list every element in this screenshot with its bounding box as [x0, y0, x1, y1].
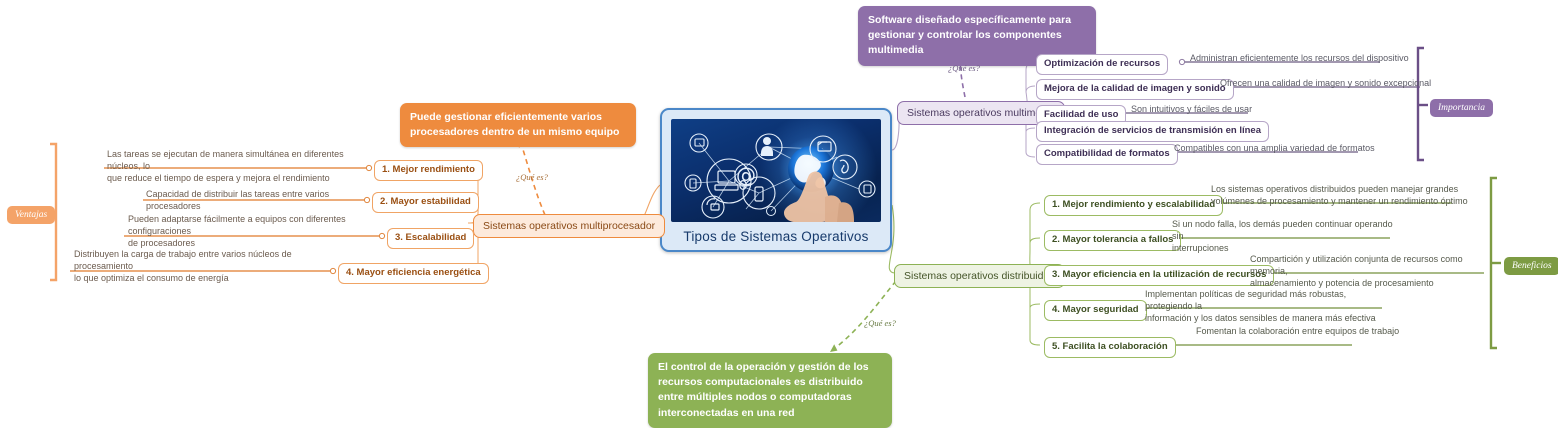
page-title: Tipos de Sistemas Operativos: [671, 222, 881, 252]
leaf-desc-mayor-eficiencia-utilizacion-recursos: Compartición y utilización conjunta de r…: [1250, 253, 1500, 289]
svg-text:@: @: [736, 163, 756, 187]
branch-head-distribuidos[interactable]: Sistemas operativos distribuidos: [894, 264, 1065, 288]
central-topic[interactable]: @ Tipos de Sistemas Operativos: [660, 108, 892, 252]
multimedia-question-label: ¿Qué es?: [948, 63, 980, 73]
leaf-integracion-servicios-transmision[interactable]: Integración de servicios de transmisión …: [1036, 121, 1269, 142]
distribuidos-definition-callout[interactable]: El control de la operación y gestión de …: [648, 353, 892, 428]
group-tag-ventajas[interactable]: Ventajas: [7, 204, 55, 224]
leaf-desc-optimizacion-de-recursos: Administran eficientemente los recursos …: [1190, 52, 1420, 64]
leaf-desc-mayor-estabilidad: Capacidad de distribuir las tareas entre…: [146, 188, 376, 212]
group-tag-importancia-label: Importancia: [1430, 99, 1493, 117]
branch-head-multiprocesador[interactable]: Sistemas operativos multiprocesador: [473, 214, 665, 238]
group-tag-ventajas-label: Ventajas: [7, 206, 55, 224]
leaf-mayor-tolerancia-a-fallos[interactable]: 2. Mayor tolerancia a fallos: [1044, 230, 1181, 251]
leaf-desc-mayor-eficiencia-energetica: Distribuyen la carga de trabajo entre va…: [74, 248, 329, 284]
multiprocesador-question-label: ¿Qué es?: [516, 172, 548, 182]
distribuidos-question-label: ¿Qué es?: [864, 318, 896, 328]
leaf-desc-facilidad-de-uso: Son intuitivos y fáciles de usar: [1131, 103, 1311, 115]
group-tag-beneficios[interactable]: Beneficios: [1504, 255, 1558, 275]
leaf-mejor-rendimiento-escalabilidad[interactable]: 1. Mejor rendimiento y escalabilidad: [1044, 195, 1223, 216]
multiprocesador-definition-callout[interactable]: Puede gestionar eficientemente varios pr…: [400, 103, 636, 147]
leaf-desc-mayor-tolerancia-a-fallos: Si un nodo falla, los demás pueden conti…: [1172, 218, 1402, 254]
leaf-desc-escalabilidad: Pueden adaptarse fácilmente a equipos co…: [128, 213, 383, 249]
leaf-desc-mejor-rendimiento: Las tareas se ejecutan de manera simultá…: [107, 148, 367, 184]
group-tag-importancia[interactable]: Importancia: [1430, 97, 1493, 117]
leaf-escalabilidad[interactable]: 3. Escalabilidad: [387, 228, 474, 249]
leaf-facilita-la-colaboracion[interactable]: 5. Facilita la colaboración: [1044, 337, 1176, 358]
central-illustration: @: [671, 119, 881, 222]
leaf-desc-facilita-la-colaboracion: Fomentan la colaboración entre equipos d…: [1196, 325, 1426, 337]
leaf-mayor-eficiencia-utilizacion-recursos[interactable]: 3. Mayor eficiencia en la utilización de…: [1044, 265, 1274, 286]
leaf-compatibilidad-de-formatos[interactable]: Compatibilidad de formatos: [1036, 144, 1178, 165]
leaf-mayor-eficiencia-energetica[interactable]: 4. Mayor eficiencia energética: [338, 263, 489, 284]
mindmap-canvas: @ Tipos de Sistemas Operativos Software …: [0, 0, 1558, 410]
leaf-mejora-calidad-imagen-sonido[interactable]: Mejora de la calidad de imagen y sonido: [1036, 79, 1234, 100]
technology-network-icon: @: [671, 119, 881, 222]
leaf-mayor-estabilidad[interactable]: 2. Mayor estabilidad: [372, 192, 479, 213]
leaf-desc-mejora-calidad-imagen-sonido: Ofrecen una calidad de imagen y sonido e…: [1220, 77, 1470, 89]
leaf-desc-mejor-rendimiento-escalabilidad: Los sistemas operativos distribuidos pue…: [1211, 183, 1471, 207]
leaf-desc-mayor-seguridad: Implementan políticas de seguridad más r…: [1145, 288, 1395, 324]
leaf-desc-compatibilidad-de-formatos: Compatibles con una amplia variedad de f…: [1174, 142, 1404, 154]
leaf-mayor-seguridad[interactable]: 4. Mayor seguridad: [1044, 300, 1147, 321]
leaf-optimizacion-de-recursos[interactable]: Optimización de recursos: [1036, 54, 1168, 75]
group-tag-beneficios-label: Beneficios: [1504, 257, 1558, 275]
leaf-mejor-rendimiento[interactable]: 1. Mejor rendimiento: [374, 160, 483, 181]
